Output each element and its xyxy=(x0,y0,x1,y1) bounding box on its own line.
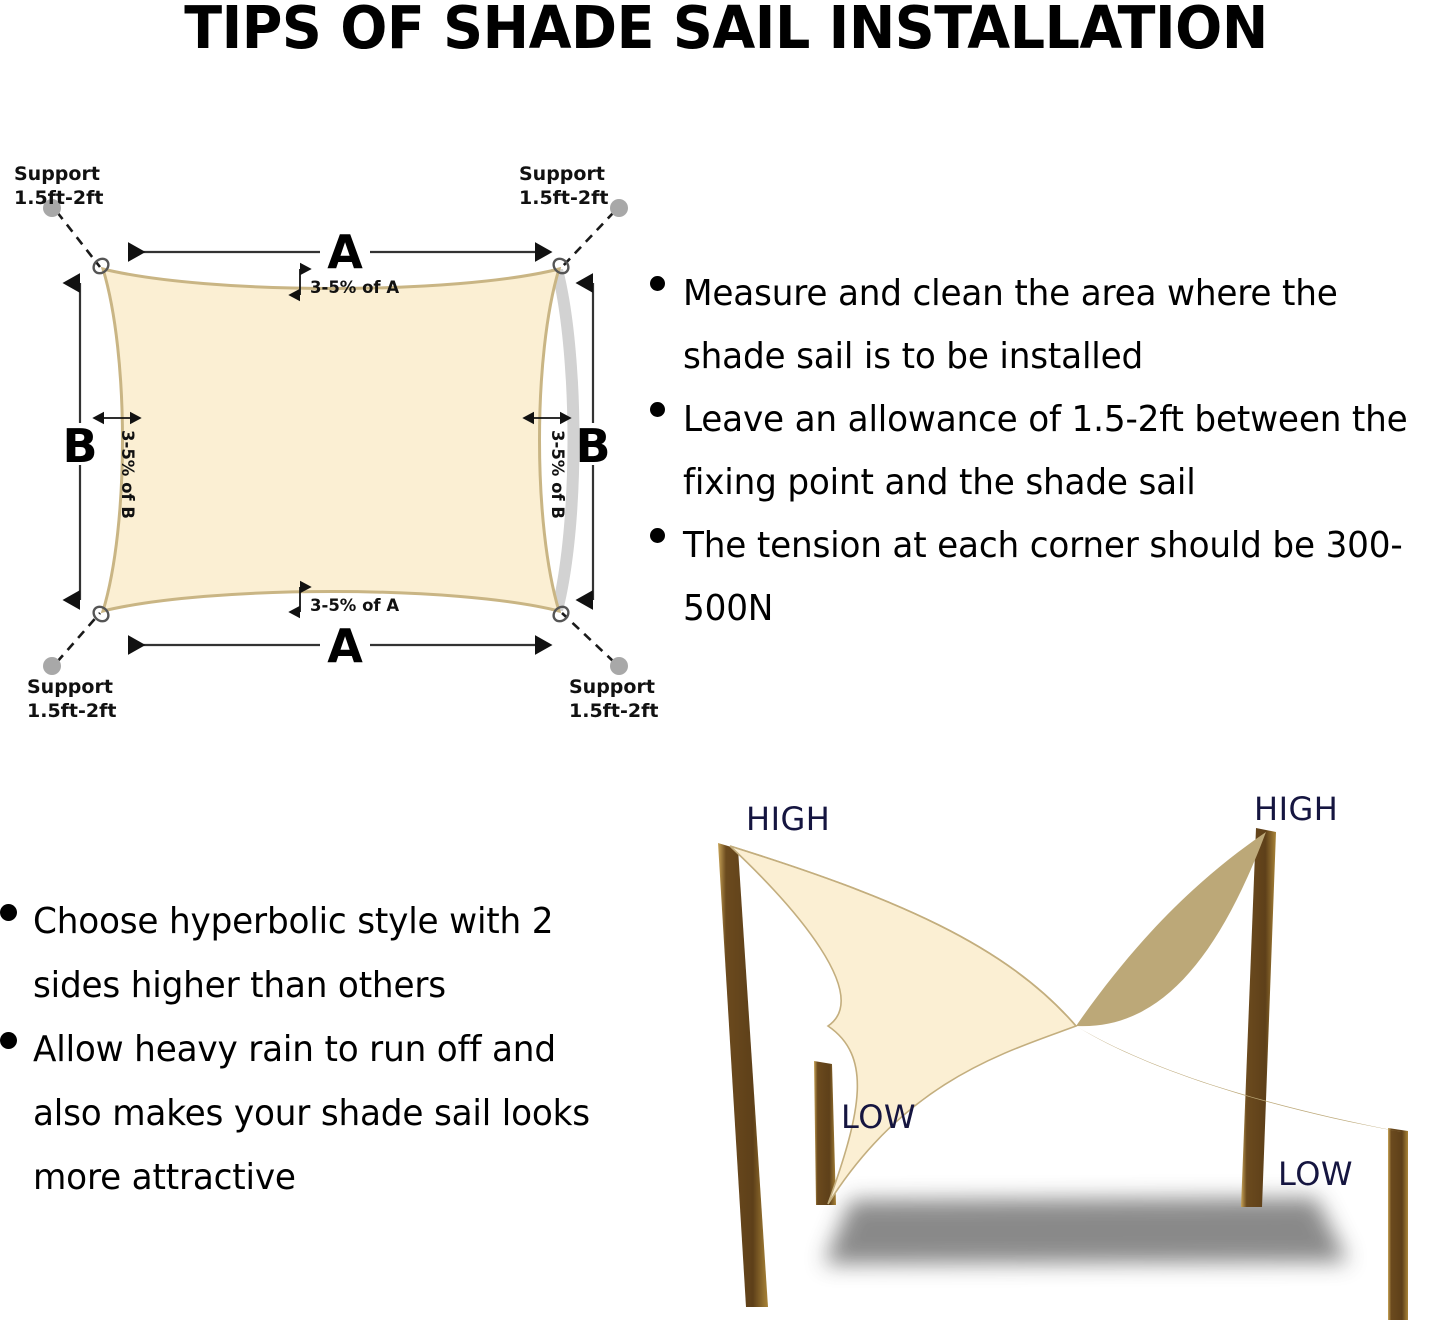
curve-note-top: 3-5% of A xyxy=(310,278,399,297)
support-label-bottom-left: Support 1.5ft-2ft xyxy=(27,676,116,722)
bullet-icon xyxy=(0,1032,17,1049)
list-item: Choose hyperbolic style with 2 sides hig… xyxy=(0,890,640,1018)
page-title: TIPS OF SHADE SAIL INSTALLATION xyxy=(44,0,1409,60)
label-high-left: HIGH xyxy=(746,800,830,838)
list-item: Allow heavy rain to run off and also mak… xyxy=(0,1018,640,1210)
support-bottom-left-line1: Support xyxy=(27,676,113,698)
label-low-right: LOW xyxy=(1278,1155,1353,1193)
hyperbolic-style-list: Choose hyperbolic style with 2 sides hig… xyxy=(0,890,640,1220)
dim-label-B-left: B xyxy=(62,419,97,473)
pole-high-right xyxy=(1241,828,1276,1207)
bullet-icon xyxy=(650,276,665,291)
support-top-left-line1: Support xyxy=(14,163,100,185)
tether-bottom-left xyxy=(57,613,100,662)
ground-shadow xyxy=(824,1198,1348,1264)
support-top-right-line2: 1.5ft-2ft xyxy=(519,187,608,209)
support-dot-top-right xyxy=(610,199,628,217)
pole-high-left xyxy=(718,843,768,1307)
support-dot-bottom-right xyxy=(610,657,628,675)
sail-panel-front-cream xyxy=(730,846,1076,1204)
dim-label-B-right: B xyxy=(575,419,610,473)
list-item: Leave an allowance of 1.5-2ft between th… xyxy=(650,388,1452,514)
tether-top-left xyxy=(57,212,100,267)
support-dot-bottom-left xyxy=(43,657,61,675)
tether-top-right xyxy=(562,212,614,267)
style-bullets: Choose hyperbolic style with 2 sides hig… xyxy=(0,890,640,1210)
tip-text: Measure and clean the area where the sha… xyxy=(683,262,1425,388)
support-label-bottom-right: Support 1.5ft-2ft xyxy=(569,676,658,722)
support-bottom-left-line2: 1.5ft-2ft xyxy=(27,700,116,722)
style-text: Allow heavy rain to run off and also mak… xyxy=(33,1018,619,1210)
support-bottom-right-line1: Support xyxy=(569,676,655,698)
bullet-icon xyxy=(650,528,665,543)
installation-tips-list: Measure and clean the area where the sha… xyxy=(650,262,1452,662)
list-item: Measure and clean the area where the sha… xyxy=(650,262,1452,388)
hyperbolic-sail-diagram: HIGH HIGH LOW LOW xyxy=(676,780,1452,1325)
tip-text: The tension at each corner should be 300… xyxy=(683,514,1425,640)
tip-text: Leave an allowance of 1.5-2ft between th… xyxy=(683,388,1425,514)
list-item: The tension at each corner should be 300… xyxy=(650,514,1452,640)
bullet-icon xyxy=(650,402,665,417)
pole-low-right xyxy=(1388,1128,1408,1320)
curve-note-right: 3-5% of B xyxy=(548,430,567,519)
label-high-right: HIGH xyxy=(1254,790,1338,828)
support-label-top-right: Support 1.5ft-2ft xyxy=(519,163,608,209)
curve-note-bottom: 3-5% of A xyxy=(310,596,399,615)
rect-sail-diagram: A A B B 3-5% of A 3-5% of A 3-5% of B xyxy=(0,165,660,735)
curve-note-left: 3-5% of B xyxy=(118,430,137,519)
dim-label-A-top: A xyxy=(327,225,363,279)
label-low-left: LOW xyxy=(841,1098,916,1136)
support-bottom-right-line2: 1.5ft-2ft xyxy=(569,700,658,722)
pole-low-left xyxy=(814,1061,836,1205)
support-label-top-left: Support 1.5ft-2ft xyxy=(14,163,103,209)
tips-bullets: Measure and clean the area where the sha… xyxy=(650,262,1452,640)
support-top-left-line2: 1.5ft-2ft xyxy=(14,187,103,209)
shade-sail-shape xyxy=(103,269,559,611)
bullet-icon xyxy=(0,904,17,921)
dim-label-A-bottom: A xyxy=(327,619,363,673)
support-top-right-line1: Support xyxy=(519,163,605,185)
tether-bottom-right xyxy=(562,613,614,662)
style-text: Choose hyperbolic style with 2 sides hig… xyxy=(33,890,619,1018)
